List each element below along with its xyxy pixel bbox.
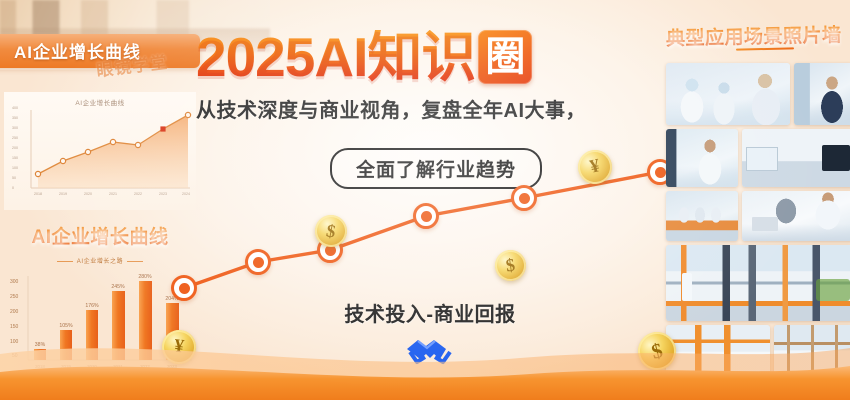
data-point-dot (421, 211, 432, 222)
mini-xtick-4: 2022 (134, 192, 142, 196)
main-title-boxed-char: 圈 (478, 30, 532, 84)
photo-factory-floor-team[interactable] (666, 191, 738, 241)
mini-ytick-0: 400 (12, 106, 18, 110)
mini-ytick-2: 300 (12, 126, 18, 130)
data-point-dot (519, 193, 530, 204)
photo-automation-production-line[interactable] (666, 245, 850, 321)
mini-ytick-4: 200 (12, 146, 18, 150)
data-point-2[interactable] (245, 249, 271, 275)
photo-office-laptop-meeting[interactable] (742, 191, 850, 241)
svg-text:245%: 245% (111, 284, 125, 290)
poster-canvas: AI企业增长曲线 眼镜学堂 AI企业增长曲线 400 350 300 (0, 0, 850, 400)
mini-ytick-3: 250 (12, 136, 18, 140)
subtitle-dash-left (57, 261, 73, 262)
right-section-header: 典型应用场景照片墙 (666, 20, 850, 51)
mini-xtick-0: 2018 (34, 192, 42, 196)
data-point-5[interactable] (511, 185, 537, 211)
page-title: 2025AI知识圈 (196, 26, 676, 88)
subtitle-dash-right (127, 261, 143, 262)
mini-ytick-8: 0 (12, 186, 14, 190)
data-point-dot (179, 283, 190, 294)
data-point-4[interactable] (413, 203, 439, 229)
photo-doctors-lab-discussion[interactable] (666, 63, 790, 125)
svg-text:176%: 176% (85, 303, 99, 309)
svg-text:280%: 280% (138, 274, 152, 280)
mini-xtick-1: 2019 (59, 192, 67, 196)
bottom-caption: 技术投入-商业回报 (300, 298, 560, 327)
photo-scientist-tablet-lab[interactable] (666, 129, 738, 187)
photo-engineer-control-panel[interactable] (794, 63, 850, 125)
bottom-wave-band (0, 328, 850, 400)
mini-xtick-2: 2020 (84, 192, 92, 196)
subtitle-text: 从技术深度与商业视角，复盘全年AI大事， (196, 94, 666, 123)
mini-ytick-6: 100 (12, 166, 18, 170)
svg-text:300: 300 (10, 279, 19, 285)
right-header-rule (736, 47, 794, 50)
data-point-dot (253, 257, 264, 268)
center-line-path (160, 150, 700, 310)
svg-text:250: 250 (10, 294, 19, 300)
main-title-text: 2025AI知识 (196, 30, 475, 85)
center-trend-line-chart (160, 150, 700, 310)
photo-office-worker-dual-monitor[interactable] (742, 129, 850, 187)
mini-ytick-1: 350 (12, 116, 18, 120)
mini-xtick-3: 2021 (109, 192, 117, 196)
svg-text:200: 200 (10, 309, 19, 315)
mini-ytick-7: 50 (12, 176, 16, 180)
mini-ytick-5: 150 (12, 156, 18, 160)
data-point-1[interactable] (171, 275, 197, 301)
